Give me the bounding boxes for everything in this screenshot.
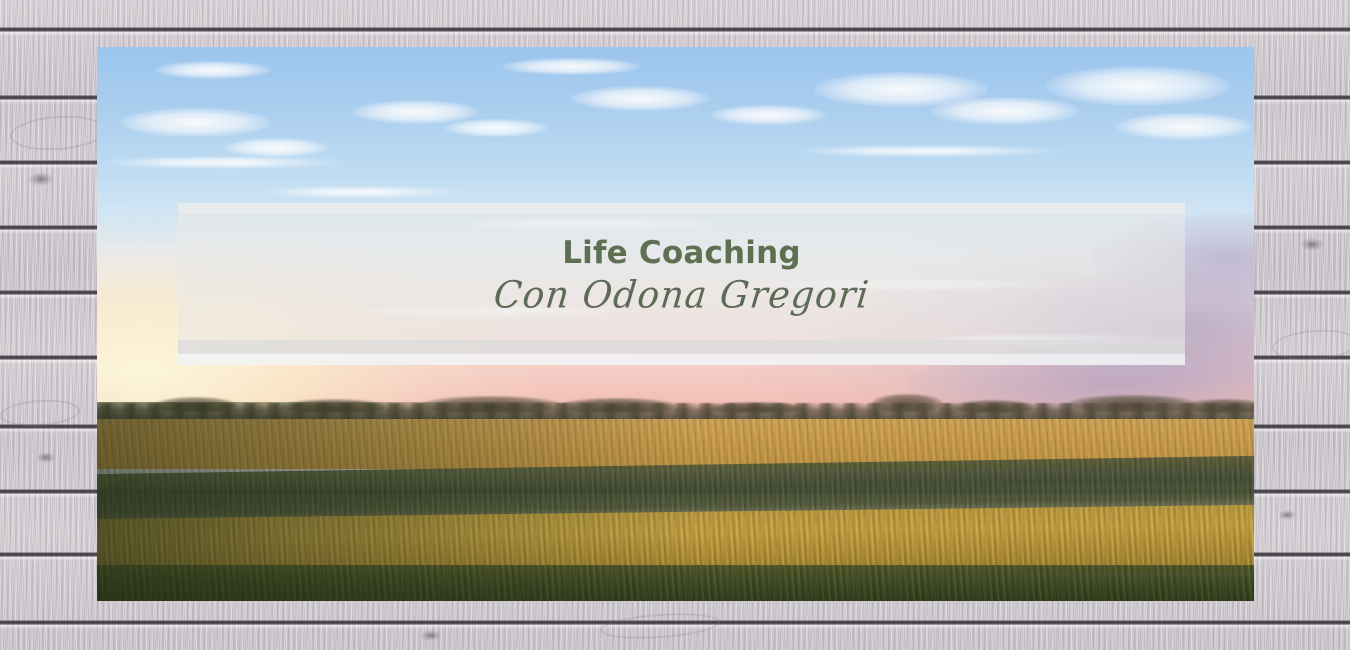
banner-stage: Life Coaching Con Odona Gregori — [0, 0, 1350, 650]
cloud — [352, 100, 479, 124]
wood-knot — [1300, 238, 1324, 251]
wood-knot — [28, 172, 54, 186]
text-overlay-band: Life Coaching Con Odona Gregori — [178, 203, 1185, 365]
tree-clump — [872, 394, 941, 412]
cloud — [502, 58, 641, 75]
band-top-strip — [178, 203, 1185, 214]
cloud — [571, 86, 710, 111]
plank-seam — [0, 27, 1350, 32]
cloud — [120, 108, 270, 137]
banner-text-group: Life Coaching Con Odona Gregori — [178, 214, 1185, 340]
tree-clump — [1185, 399, 1254, 412]
banner-subtitle: Con Odona Gregori — [491, 272, 871, 319]
foreground-shadow — [97, 402, 699, 601]
tree-clump — [953, 400, 1034, 412]
band-gray-strip — [178, 340, 1185, 354]
cloud — [1115, 113, 1254, 140]
wood-knot — [420, 630, 442, 641]
banner-title: Life Coaching — [562, 236, 801, 270]
cloud — [444, 119, 548, 137]
wood-knot — [36, 452, 56, 463]
cloud — [1046, 66, 1231, 106]
tree-clump — [710, 402, 803, 413]
cloud — [930, 97, 1080, 125]
band-light-strip — [178, 354, 1185, 365]
cloud-wisp — [97, 158, 352, 167]
tree-clump — [1069, 395, 1196, 412]
cloud — [155, 61, 271, 79]
cloud-wisp — [791, 147, 1069, 155]
cloud-wisp — [259, 188, 467, 196]
cloud — [710, 105, 826, 125]
wood-knot — [1278, 510, 1296, 520]
